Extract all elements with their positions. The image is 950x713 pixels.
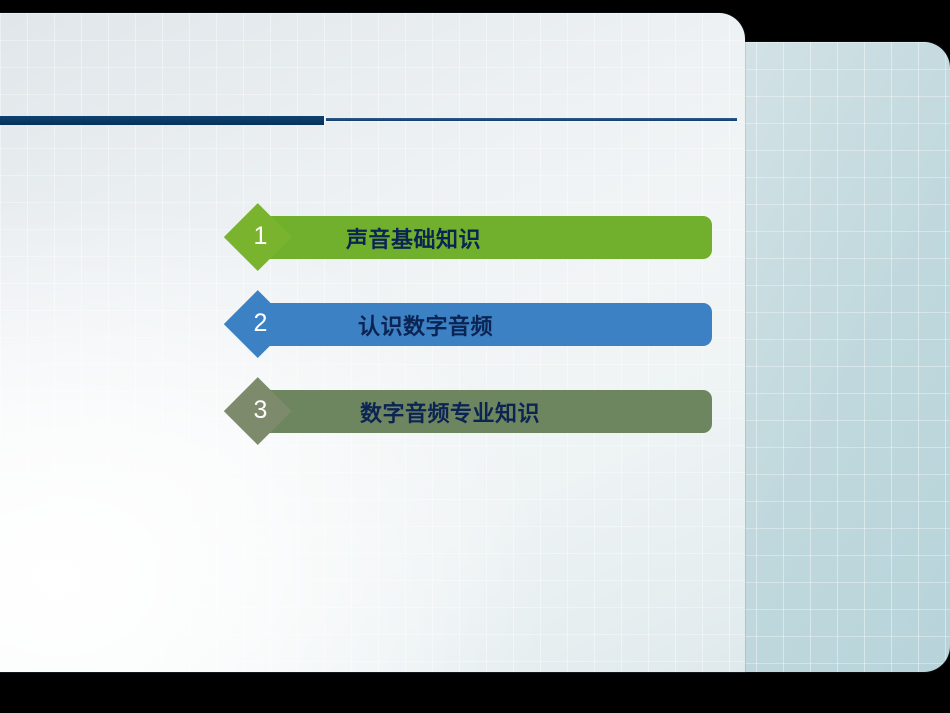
agenda-item-2[interactable]: 2 认识数字音频: [224, 281, 714, 369]
agenda-label-2: 认识数字音频: [358, 303, 493, 346]
agenda-number-3: 3: [224, 377, 291, 444]
agenda-number-1: 1: [224, 203, 291, 270]
agenda-bar-1: [262, 216, 712, 259]
agenda-list: 1 声音基础知识 2 认识数字音频 3 数字音频专业知识: [0, 0, 950, 713]
agenda-item-1[interactable]: 1 声音基础知识: [224, 194, 714, 282]
agenda-item-3[interactable]: 3 数字音频专业知识: [224, 368, 714, 456]
agenda-diamond-1: 1: [224, 203, 291, 270]
agenda-label-1: 声音基础知识: [346, 216, 481, 259]
agenda-label-3: 数字音频专业知识: [360, 390, 540, 433]
agenda-diamond-3: 3: [224, 377, 291, 444]
agenda-number-2: 2: [224, 290, 291, 357]
slide-canvas: 1 声音基础知识 2 认识数字音频 3 数字音频专业知识: [0, 0, 950, 713]
agenda-diamond-2: 2: [224, 290, 291, 357]
